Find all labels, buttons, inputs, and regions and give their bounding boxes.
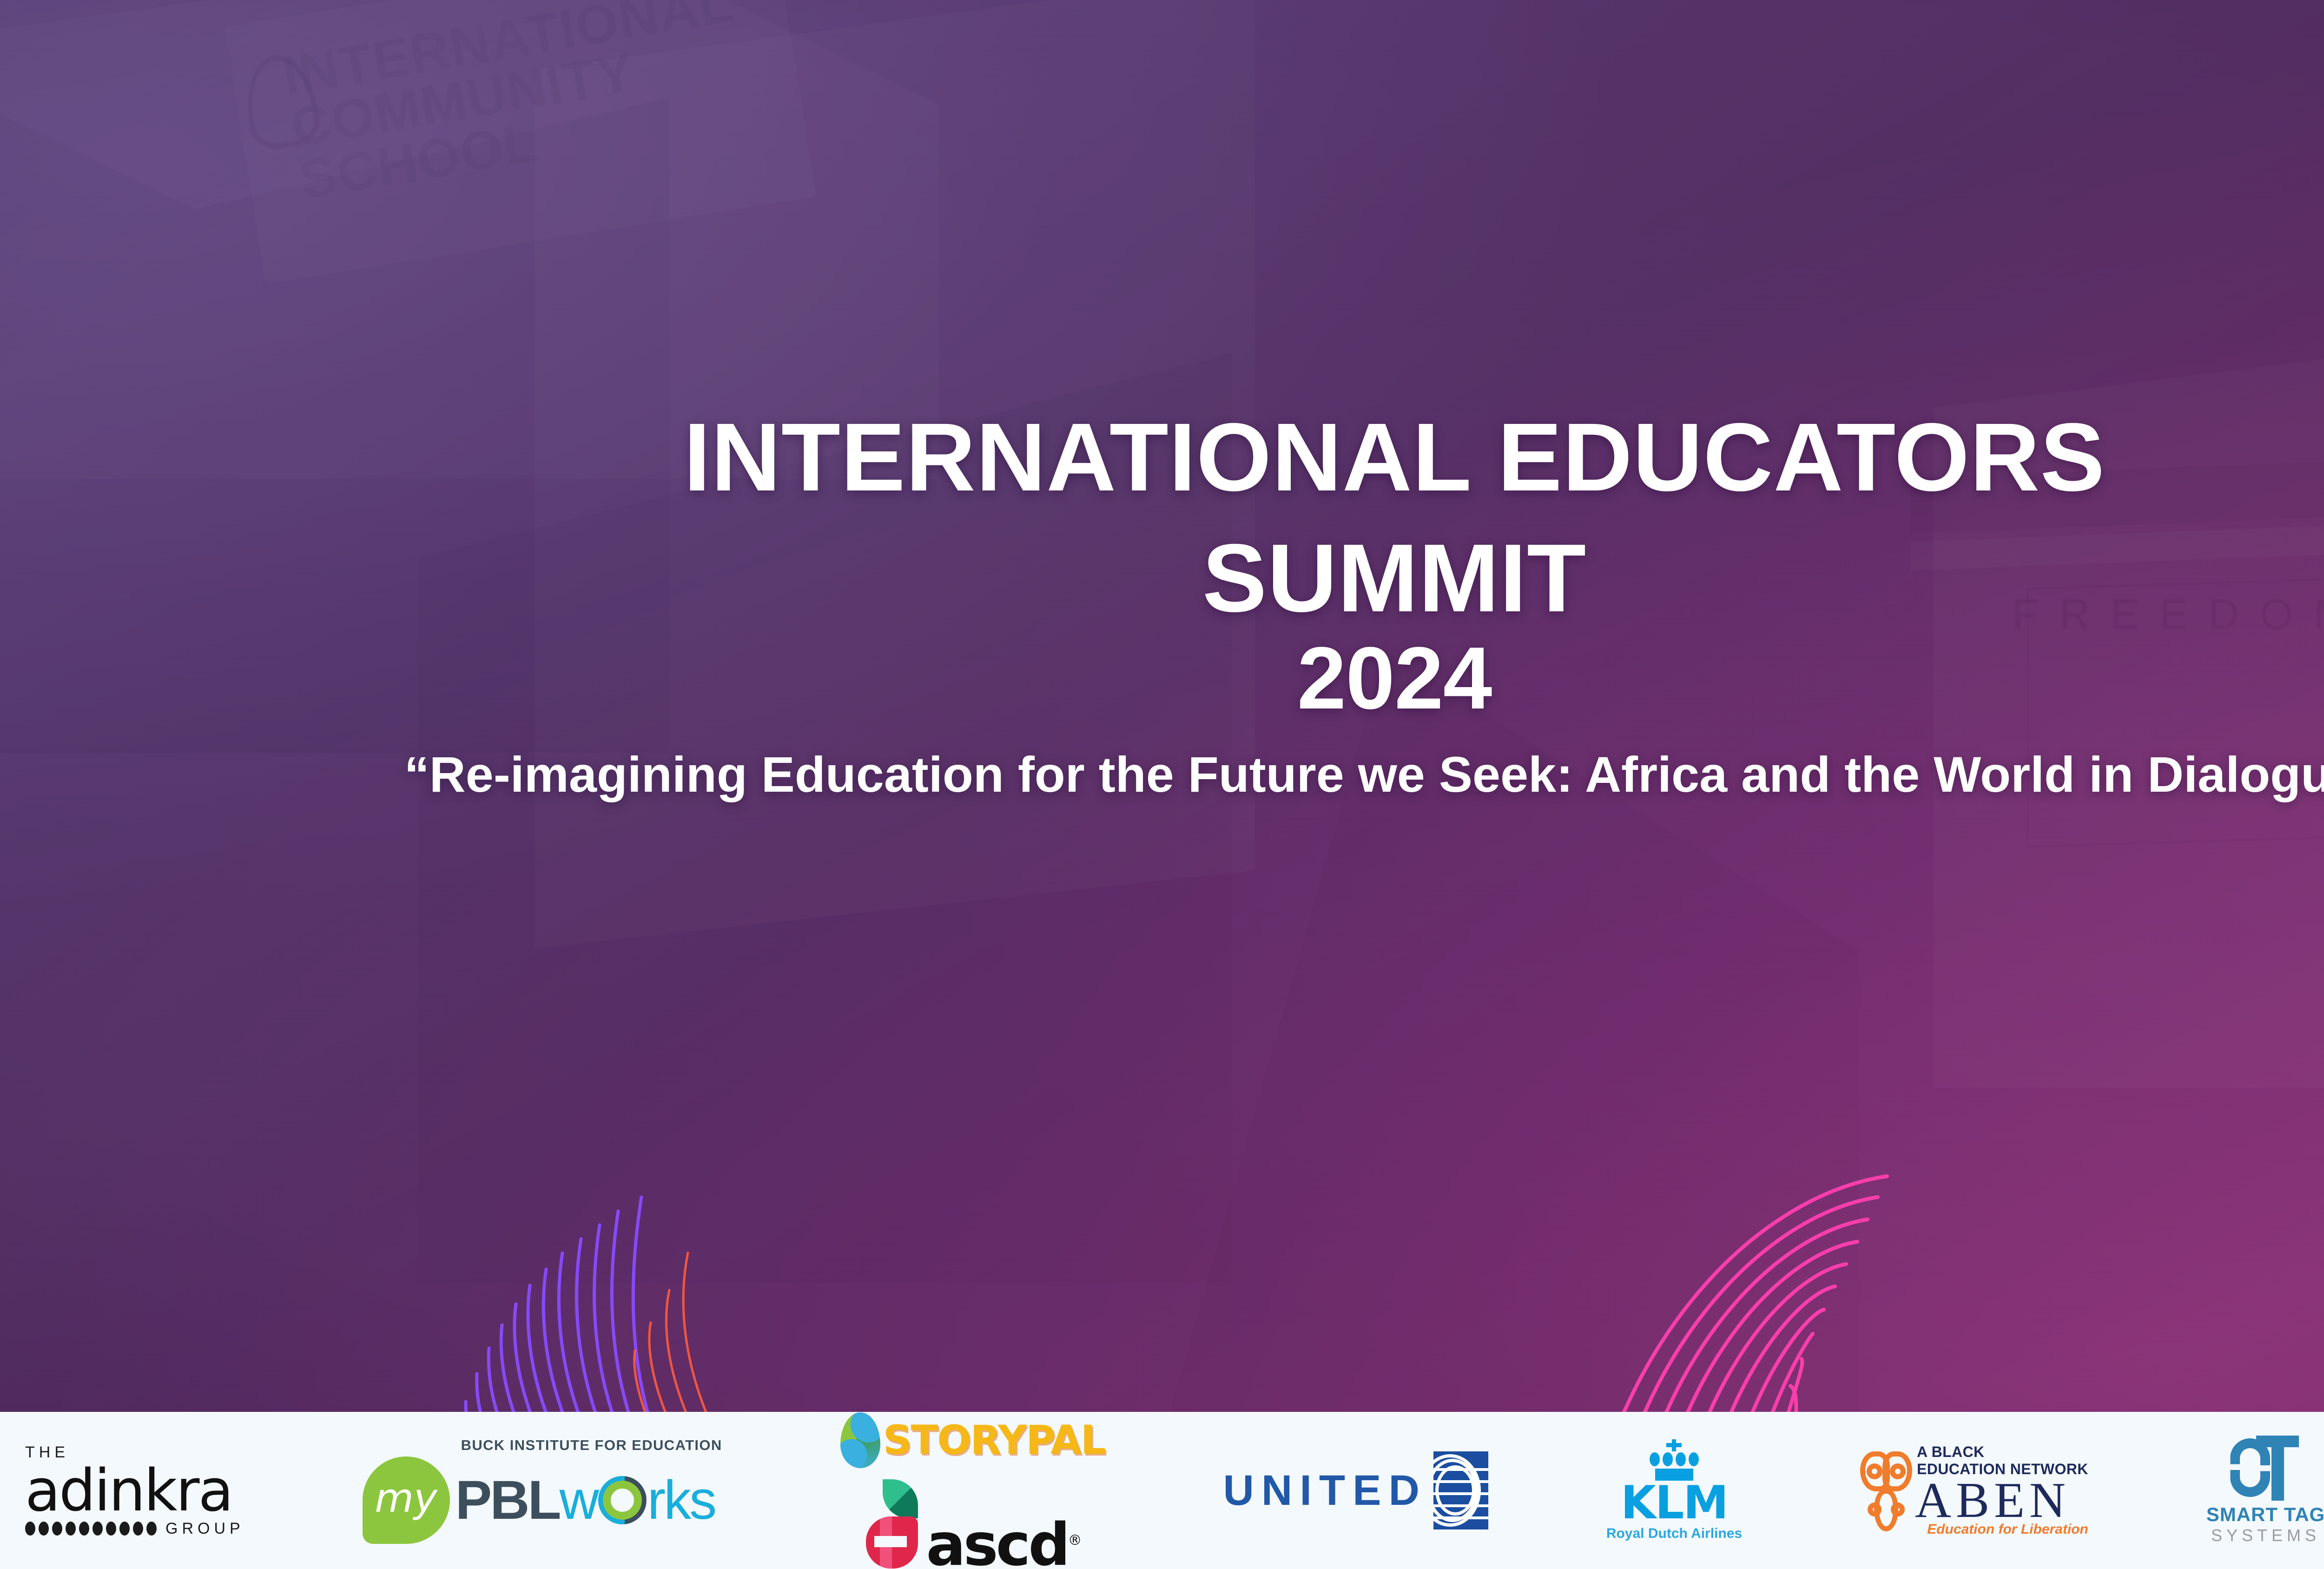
klm-wordmark: KLM: [1621, 1483, 1728, 1523]
smart-tag-line-2: SYSTEMS: [2211, 1526, 2320, 1545]
ascd-text: ascd: [926, 1510, 1068, 1569]
smart-tag-st-monogram-icon: [2230, 1436, 2301, 1501]
ascd-registered-mark: ®: [1068, 1532, 1080, 1549]
aben-text-block: A BLACK EDUCATION NETWORK ABEN Education…: [1915, 1443, 2088, 1538]
klm-crown-icon: [1650, 1439, 1699, 1481]
sponsor-logo-mypblworks[interactable]: BUCK INSTITUTE FOR EDUCATION my PBLwrks: [363, 1437, 722, 1544]
adinkra-dots-row: GROUP: [25, 1521, 244, 1536]
aben-adinkra-symbol-icon: [1860, 1444, 1912, 1537]
sponsor-logo-united-airlines[interactable]: UNITED: [1223, 1451, 1488, 1529]
pbl-wordmark-row: my PBLwrks: [363, 1456, 715, 1544]
united-globe-icon: [1433, 1451, 1488, 1529]
ascd-wordmark: ascd®: [926, 1521, 1080, 1569]
pbl-wordmark: PBLwrks: [456, 1469, 715, 1532]
united-wordmark: UNITED: [1223, 1466, 1426, 1515]
summit-poster-slide: INTERNATIONAL COMMUNITY SCHOOL AD 195 FR…: [0, 0, 2324, 1569]
pbl-buck-institute-text: BUCK INSTITUTE FOR EDUCATION: [461, 1437, 722, 1454]
title-block: INTERNATIONAL EDUCATORS SUMMIT 2024 “Re-…: [0, 409, 2324, 807]
aben-tagline: Education for Liberation: [1915, 1522, 2088, 1537]
event-tagline: “Re-imagining Education for the Future w…: [209, 742, 2324, 807]
storypal-row: STORYPAL: [840, 1412, 1105, 1468]
ascd-apple-icon: [866, 1479, 918, 1569]
sponsor-logo-the-adinkra-group[interactable]: THE adinkra GROUP: [25, 1444, 244, 1536]
aben-wordmark: ABEN: [1915, 1477, 2088, 1523]
smart-tag-line-1: SMART TAG: [2206, 1503, 2324, 1526]
adinkra-group-text: GROUP: [165, 1521, 244, 1536]
sponsor-logo-bar: THE adinkra GROUP BUCK INSTITUTE FOR EDU…: [0, 1412, 2324, 1569]
klm-subtitle: Royal Dutch Airlines: [1606, 1526, 1742, 1542]
adinkra-wordmark: adinkra: [25, 1462, 232, 1520]
page-title-line-1: INTERNATIONAL EDUCATORS: [0, 409, 2324, 506]
pbl-w-text: w: [560, 1469, 597, 1532]
event-year: 2024: [0, 634, 2324, 722]
sponsor-logo-smart-tag-systems[interactable]: SMART TAG SYSTEMS: [2206, 1436, 2324, 1545]
pbl-rks-text: rks: [647, 1469, 715, 1532]
pbl-speech-bubble-icon: my: [363, 1456, 450, 1544]
pbl-o-ring-icon: [598, 1476, 647, 1524]
aben-line-1: A BLACK: [1917, 1443, 2088, 1461]
sponsor-logo-klm[interactable]: KLM Royal Dutch Airlines: [1606, 1439, 1742, 1541]
storypal-globe-icon: [840, 1412, 880, 1468]
ascd-row: ascd®: [866, 1479, 1080, 1569]
adinkra-dots-icon: [25, 1522, 157, 1536]
pbl-pbl-text: PBL: [456, 1469, 560, 1532]
sponsor-logo-ascd[interactable]: ascd®: [866, 1479, 1080, 1569]
storypal-wordmark: STORYPAL: [883, 1417, 1105, 1463]
sponsor-logo-ascd-storypal-group: STORYPAL ascd®: [840, 1412, 1105, 1569]
pbl-my-text: my: [375, 1475, 437, 1522]
page-title-line-2: SUMMIT: [0, 530, 2324, 627]
sponsor-logo-aben[interactable]: A BLACK EDUCATION NETWORK ABEN Education…: [1860, 1443, 2088, 1538]
sponsor-logo-storypal[interactable]: STORYPAL: [840, 1412, 1105, 1468]
